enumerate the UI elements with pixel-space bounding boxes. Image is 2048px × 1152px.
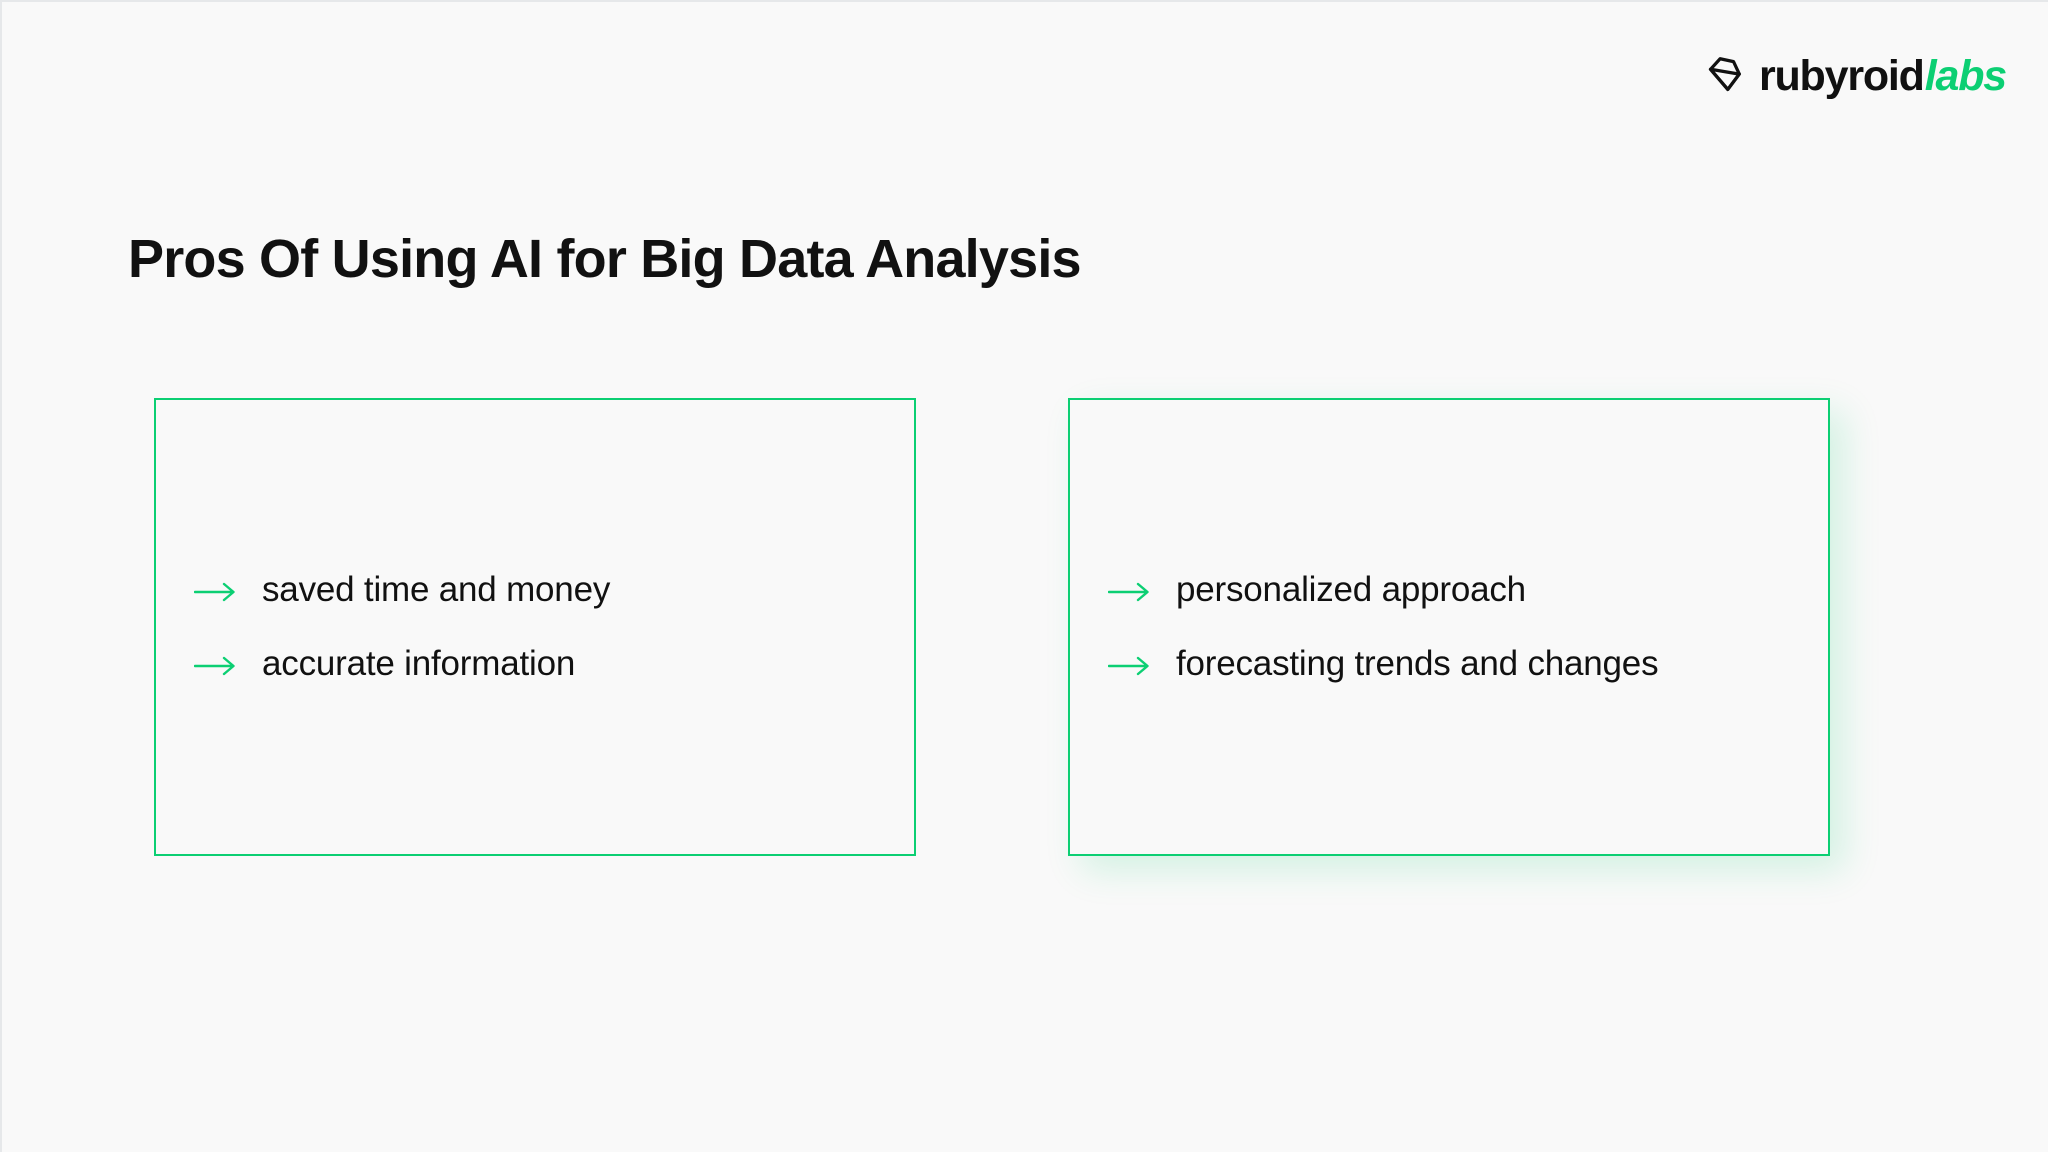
page-title: Pros Of Using AI for Big Data Analysis bbox=[128, 230, 1081, 289]
list-item: personalized approach bbox=[1108, 568, 1782, 612]
pros-card-left: saved time and money accurate informatio… bbox=[154, 398, 916, 856]
list-item: saved time and money bbox=[194, 568, 868, 612]
brand-wordmark: rubyroidlabs bbox=[1759, 55, 2006, 98]
list-item: accurate information bbox=[194, 642, 868, 686]
diamond-gem-icon bbox=[1700, 53, 1746, 99]
brand-logo: rubyroidlabs bbox=[1700, 50, 2006, 102]
pros-card-row: saved time and money accurate informatio… bbox=[2, 398, 2048, 858]
list-item-label: forecasting trends and changes bbox=[1176, 642, 1658, 686]
pros-card-right: personalized approach forecasting trends… bbox=[1068, 398, 1830, 856]
long-arrow-right-icon bbox=[194, 647, 238, 685]
long-arrow-right-icon bbox=[194, 573, 238, 611]
pros-list-left: saved time and money accurate informatio… bbox=[156, 568, 914, 686]
list-item-label: accurate information bbox=[262, 642, 575, 686]
list-item: forecasting trends and changes bbox=[1108, 642, 1782, 686]
slide-canvas: rubyroidlabs Pros Of Using AI for Big Da… bbox=[0, 0, 2048, 1152]
brand-name-accent: labs bbox=[1925, 55, 2006, 98]
list-item-label: saved time and money bbox=[262, 568, 610, 612]
long-arrow-right-icon bbox=[1108, 647, 1152, 685]
long-arrow-right-icon bbox=[1108, 573, 1152, 611]
brand-name-primary: rubyroid bbox=[1759, 55, 1924, 98]
pros-list-right: personalized approach forecasting trends… bbox=[1070, 568, 1828, 686]
list-item-label: personalized approach bbox=[1176, 568, 1526, 612]
